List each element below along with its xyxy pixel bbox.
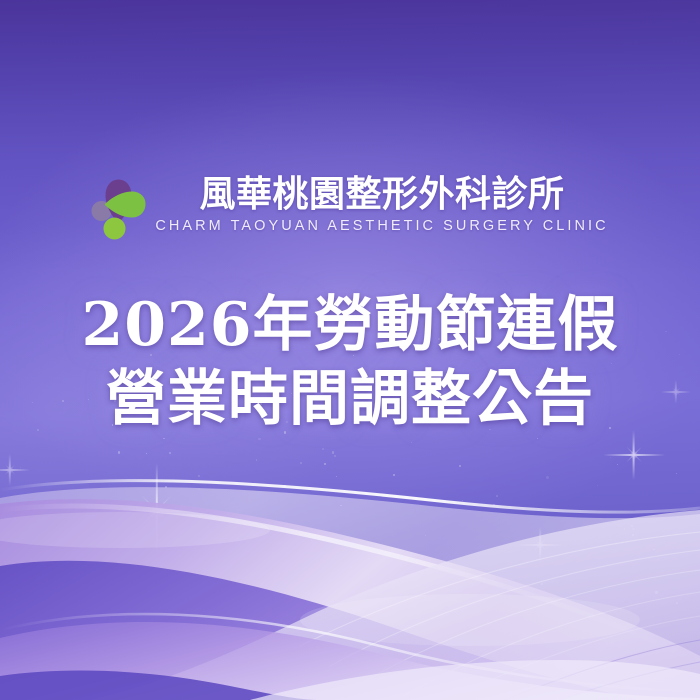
dust-mote [332, 451, 334, 453]
dust-mote [610, 457, 611, 458]
dust-mote [322, 448, 324, 450]
clinic-name-english: CHARM TAOYUAN AESTHETIC SURGERY CLINIC [155, 218, 608, 234]
clinic-logo-icon [91, 178, 147, 240]
announcement-poster: 風華桃園整形外科診所 CHARM TAOYUAN AESTHETIC SURGE… [0, 0, 700, 700]
brand-lockup: 風華桃園整形外科診所 CHARM TAOYUAN AESTHETIC SURGE… [0, 176, 700, 240]
dust-mote [258, 438, 260, 440]
dust-mote [118, 451, 121, 454]
dust-mote [411, 442, 412, 443]
clinic-name-chinese: 風華桃園整形外科診所 [199, 176, 564, 213]
logo-bottom-circle [104, 218, 126, 240]
dust-mote [146, 453, 148, 455]
dust-mote [20, 467, 21, 468]
dust-mote [334, 455, 336, 457]
headline-line-2: 營業時間調整公告 [0, 362, 700, 436]
silk-ribbon-decoration [0, 470, 700, 700]
dust-mote [300, 462, 302, 464]
ribbon-glow-right [300, 594, 640, 646]
dust-mote [256, 459, 257, 460]
headline-line-1: 2026年勞動節連假 [0, 288, 700, 362]
dust-mote [324, 463, 325, 464]
dust-mote [537, 438, 538, 439]
headline-block: 2026年勞動節連假 營業時間調整公告 [0, 288, 700, 436]
dust-mote [617, 464, 618, 465]
dust-mote [163, 438, 165, 440]
dust-mote [169, 452, 171, 454]
dust-mote [459, 465, 461, 467]
brand-text-block: 風華桃園整形外科診所 CHARM TAOYUAN AESTHETIC SURGE… [155, 176, 608, 234]
